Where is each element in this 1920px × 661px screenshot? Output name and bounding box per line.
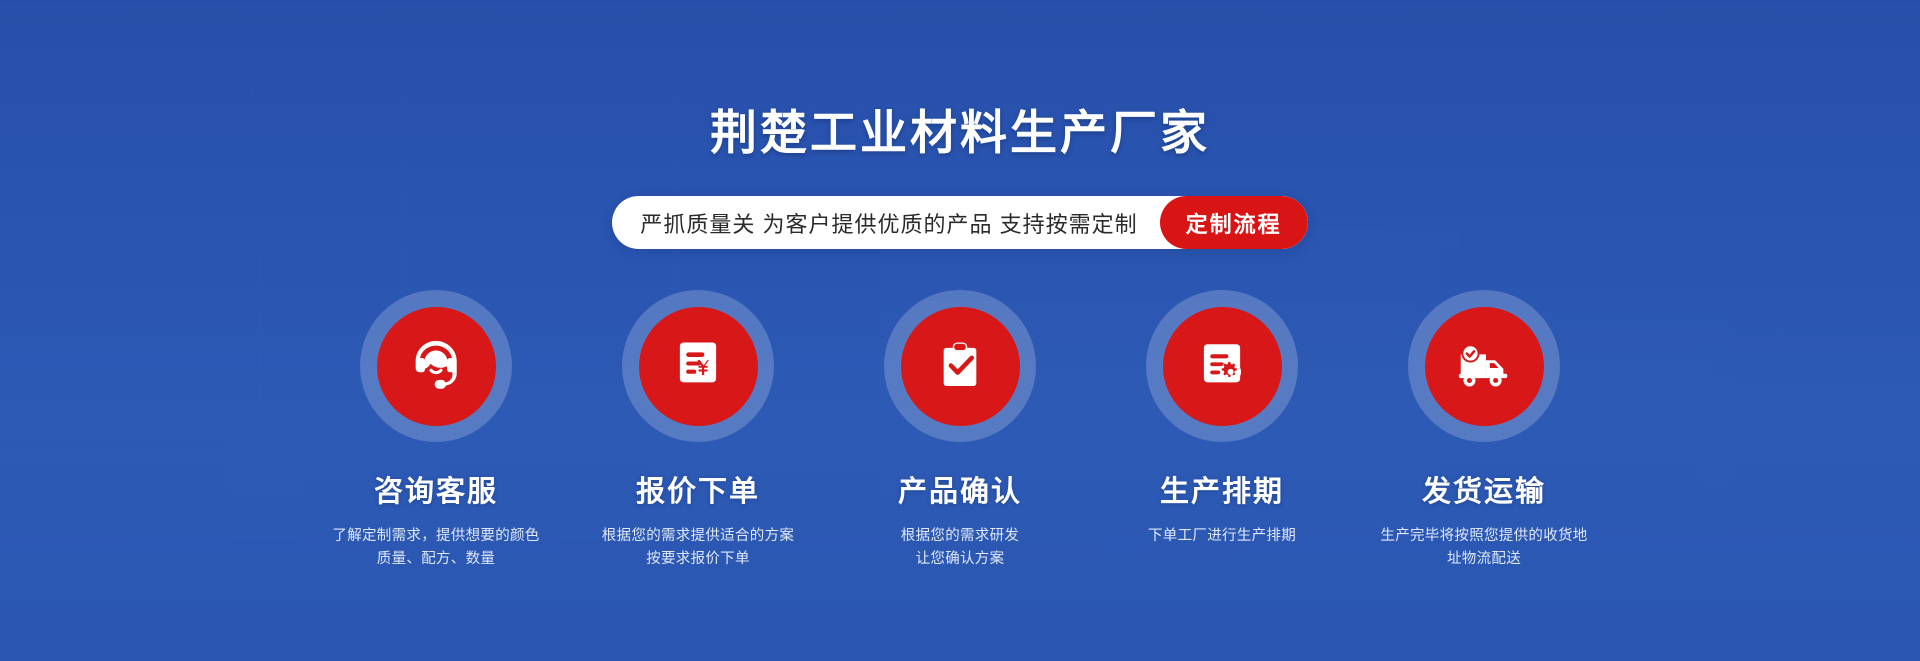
process-step[interactable]: 咨询客服 了解定制需求，提供想要的颜色质量、配方、数量: [338, 290, 534, 571]
headset-support-icon: [405, 335, 467, 397]
step-description: 根据您的需求研发让您确认方案: [855, 525, 1065, 571]
step-icon-ring[interactable]: [884, 290, 1036, 442]
step-title: 咨询客服: [374, 468, 498, 510]
hero-content: 荆楚工业材料生产厂家 严抓质量关 为客户提供优质的产品 支持按需定制 定制流程: [0, 0, 1920, 661]
process-step[interactable]: 产品确认 根据您的需求研发让您确认方案: [862, 290, 1058, 571]
slogan-banner: 严抓质量关 为客户提供优质的产品 支持按需定制 定制流程: [0, 196, 1920, 249]
step-icon-ring[interactable]: [1146, 290, 1298, 442]
step-description: 了解定制需求，提供想要的颜色质量、配方、数量: [331, 525, 541, 571]
document-gear-icon: [1193, 337, 1251, 395]
process-step[interactable]: 报价下单 根据您的需求提供适合的方案按要求报价下单: [600, 290, 796, 571]
step-title: 发货运输: [1422, 468, 1546, 510]
delivery-truck-check-icon: [1453, 335, 1515, 397]
step-icon-disc: [901, 307, 1020, 426]
process-step[interactable]: 生产排期 下单工厂进行生产排期: [1124, 290, 1320, 548]
step-title: 生产排期: [1160, 468, 1284, 510]
step-icon-disc: [1163, 307, 1282, 426]
clipboard-check-icon: [931, 337, 989, 395]
process-steps: 咨询客服 了解定制需求，提供想要的颜色质量、配方、数量: [0, 290, 1920, 571]
step-description: 根据您的需求提供适合的方案按要求报价下单: [593, 525, 803, 571]
slogan-pill: 严抓质量关 为客户提供优质的产品 支持按需定制 定制流程: [612, 196, 1307, 249]
step-icon-disc: [1425, 307, 1544, 426]
step-icon-ring[interactable]: [622, 290, 774, 442]
process-step[interactable]: 发货运输 生产完毕将按照您提供的收货地址物流配送: [1386, 290, 1582, 571]
invoice-yen-icon: [669, 337, 727, 395]
step-icon-ring[interactable]: [1408, 290, 1560, 442]
step-icon-ring[interactable]: [360, 290, 512, 442]
step-icon-disc: [377, 307, 496, 426]
step-icon-disc: [639, 307, 758, 426]
step-title: 产品确认: [898, 468, 1022, 510]
step-title: 报价下单: [636, 468, 760, 510]
step-description: 生产完毕将按照您提供的收货地址物流配送: [1379, 525, 1589, 571]
custom-process-button[interactable]: 定制流程: [1160, 196, 1308, 249]
slogan-text: 严抓质量关 为客户提供优质的产品 支持按需定制: [612, 196, 1159, 249]
page-title: 荆楚工业材料生产厂家: [0, 94, 1920, 163]
step-description: 下单工厂进行生产排期: [1117, 525, 1327, 548]
